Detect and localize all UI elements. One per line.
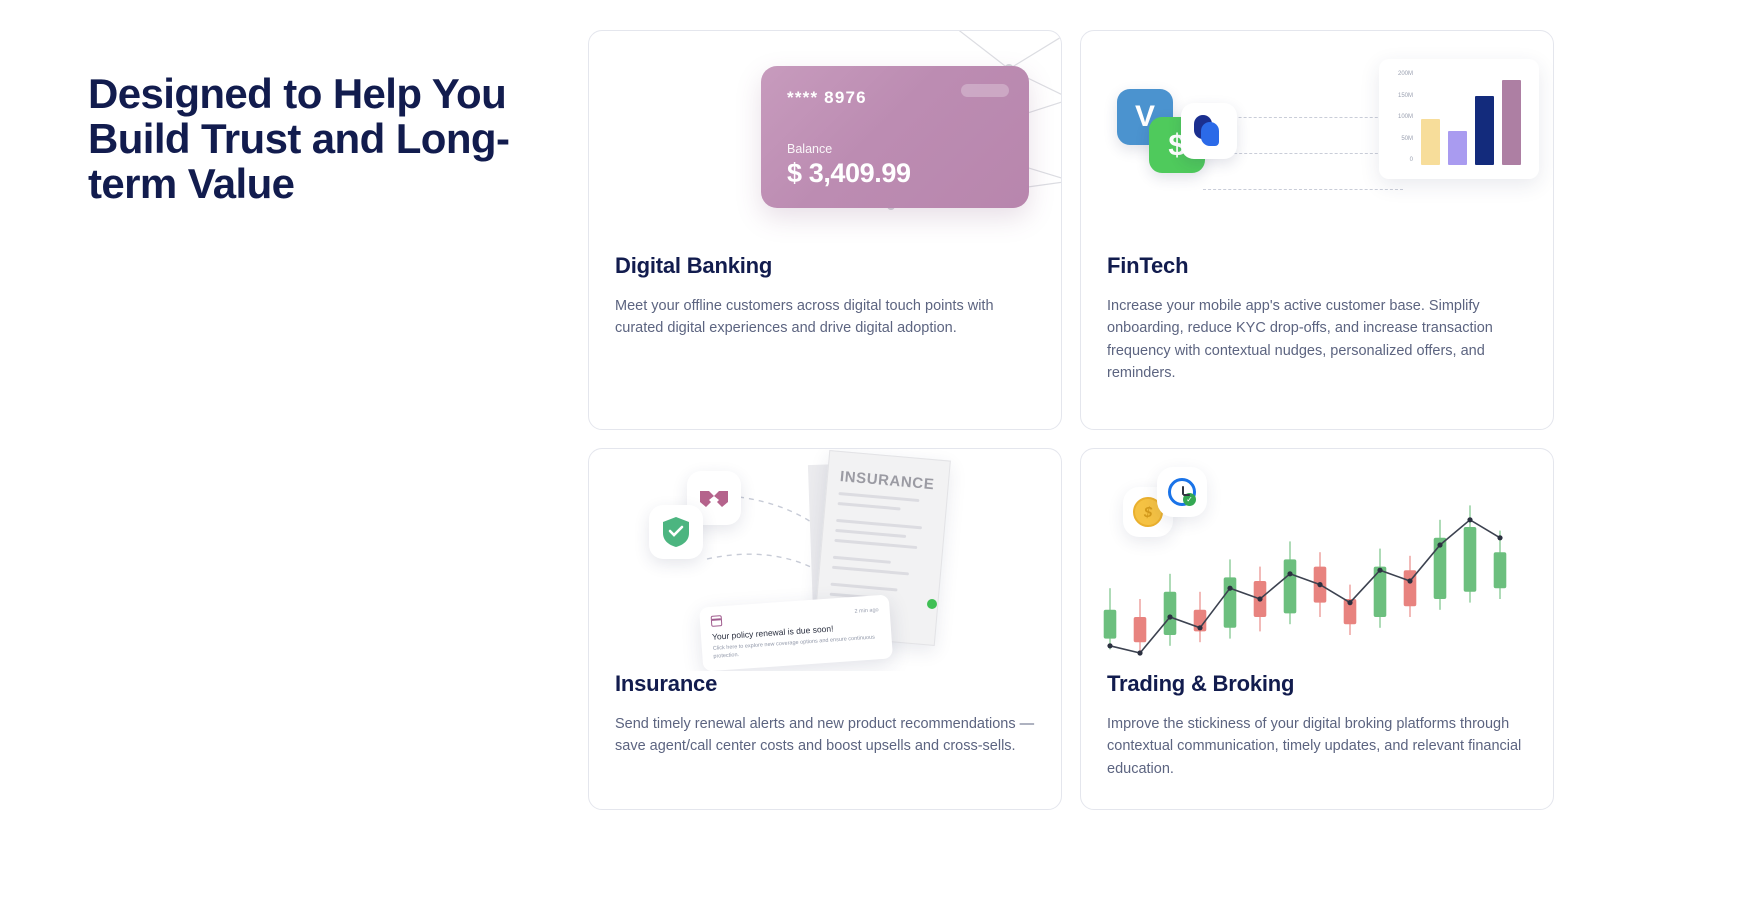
trend-point <box>1407 578 1412 583</box>
page-title: Designed to Help You Build Trust and Lon… <box>88 72 558 207</box>
trend-point <box>1437 542 1442 547</box>
candle-body <box>1494 552 1507 588</box>
card-balance-amount: $ 3,409.99 <box>787 158 911 189</box>
candle-body <box>1224 577 1237 627</box>
trend-point <box>1347 600 1352 605</box>
document-title: INSURANCE <box>839 468 936 493</box>
bar <box>1448 131 1467 166</box>
bar-chart-bars <box>1421 73 1531 165</box>
credit-card-visual: **** 8976 Balance $ 3,409.99 <box>761 66 1029 208</box>
y-tick: 50M <box>1387 136 1413 142</box>
card-description: Increase your mobile app's active custom… <box>1107 295 1527 385</box>
connector-line <box>1209 153 1403 154</box>
bar <box>1502 80 1521 165</box>
candle-body <box>1284 559 1297 613</box>
trend-point <box>1197 625 1202 630</box>
insurance-body: Insurance Send timely renewal alerts and… <box>589 671 1061 758</box>
calendar-icon <box>711 615 723 627</box>
y-tick: 100M <box>1387 114 1413 120</box>
bar <box>1421 119 1440 165</box>
feature-card-insurance[interactable]: INSURANCE <box>588 448 1062 810</box>
status-dot <box>927 599 937 609</box>
card-description: Meet your offline customers across digit… <box>615 295 1035 340</box>
candle-body <box>1464 527 1477 592</box>
feature-card-digital-banking[interactable]: **** 8976 Balance $ 3,409.99 Digital Ban… <box>588 30 1062 430</box>
page-root: Designed to Help You Build Trust and Lon… <box>0 0 1750 904</box>
feature-card-fintech[interactable]: V $ 200M 150M 100M 50M 0 <box>1080 30 1554 430</box>
candle-body <box>1104 610 1117 639</box>
trend-point <box>1287 571 1292 576</box>
connector-line <box>1203 189 1403 190</box>
digital-banking-illustration: **** 8976 Balance $ 3,409.99 <box>589 31 1061 253</box>
card-title: Trading & Broking <box>1107 671 1527 697</box>
y-tick: 150M <box>1387 93 1413 99</box>
card-balance-label: Balance <box>787 142 832 156</box>
fintech-illustration: V $ 200M 150M 100M 50M 0 <box>1081 31 1553 253</box>
trend-point <box>1107 643 1112 648</box>
card-description: Improve the stickiness of your digital b… <box>1107 713 1527 780</box>
trend-point <box>1137 650 1142 655</box>
shield-glyph <box>662 516 690 548</box>
trading-illustration: $ ✓ <box>1081 449 1553 671</box>
fintech-body: FinTech Increase your mobile app's activ… <box>1081 253 1553 385</box>
notification-toast[interactable]: 2 min ago Your policy renewal is due soo… <box>699 594 893 671</box>
card-chip-icon <box>961 84 1009 97</box>
trend-point <box>1167 614 1172 619</box>
trend-point <box>1467 517 1472 522</box>
trend-point <box>1497 535 1502 540</box>
notification-time: 2 min ago <box>854 607 879 615</box>
card-number: **** 8976 <box>787 88 867 108</box>
y-tick: 0 <box>1387 157 1413 163</box>
card-title: Insurance <box>615 671 1035 697</box>
bar <box>1475 96 1494 165</box>
feature-card-trading-broking[interactable]: $ ✓ Trading & Broking Improve the sticki… <box>1080 448 1554 810</box>
bar-chart-y-axis: 200M 150M 100M 50M 0 <box>1387 71 1413 163</box>
card-title: Digital Banking <box>615 253 1035 279</box>
trend-point <box>1227 586 1232 591</box>
y-tick: 200M <box>1387 71 1413 77</box>
candle-body <box>1134 617 1147 642</box>
insurance-illustration: INSURANCE <box>589 449 1061 671</box>
candlestick-chart <box>1095 491 1515 671</box>
candle-body <box>1164 592 1177 635</box>
trend-point <box>1257 596 1262 601</box>
trading-body: Trading & Broking Improve the stickiness… <box>1081 671 1553 780</box>
feature-card-grid: **** 8976 Balance $ 3,409.99 Digital Ban… <box>588 30 1572 828</box>
bar-chart-panel: 200M 150M 100M 50M 0 <box>1379 59 1539 179</box>
trend-point <box>1317 582 1322 587</box>
card-description: Send timely renewal alerts and new produ… <box>615 713 1035 758</box>
handshake-glyph <box>699 487 729 509</box>
card-title: FinTech <box>1107 253 1527 279</box>
digital-banking-body: Digital Banking Meet your offline custom… <box>589 253 1061 340</box>
trend-point <box>1377 568 1382 573</box>
paypal-glyph <box>1194 115 1224 147</box>
shield-check-icon <box>649 505 703 559</box>
paypal-icon <box>1181 103 1237 159</box>
